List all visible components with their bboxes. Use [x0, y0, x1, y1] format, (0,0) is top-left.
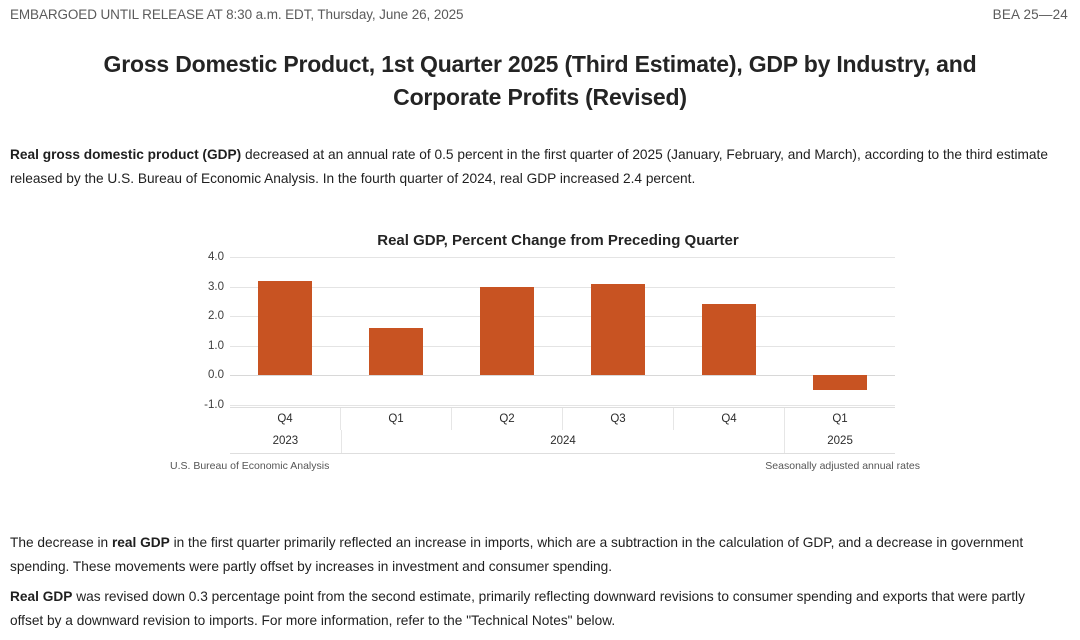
chart-footnotes: U.S. Bureau of Economic Analysis Seasona… — [170, 460, 920, 472]
x-axis-year-row: 202320242025 — [230, 430, 895, 453]
gdp-bar-chart: Real GDP, Percent Change from Preceding … — [160, 232, 920, 487]
intro-paragraph: Real gross domestic product (GDP) decrea… — [10, 143, 1054, 191]
y-tick-label: 3.0 — [188, 281, 224, 293]
y-tick-label: 0.0 — [188, 369, 224, 381]
bar-slot — [673, 257, 784, 405]
chart-plot-area — [230, 257, 895, 405]
intro-lead-bold: Real gross domestic product (GDP) — [10, 147, 241, 162]
x-tick-label: Q1 — [340, 408, 451, 430]
embargo-notice: EMBARGOED UNTIL RELEASE AT 8:30 a.m. EDT… — [10, 7, 463, 22]
bar — [369, 328, 423, 375]
bar-slot — [452, 257, 563, 405]
y-axis-labels: 4.03.02.01.00.0-1.0 — [188, 257, 224, 405]
paragraph-2-bold: Real GDP — [10, 589, 72, 604]
paragraph-decrease: The decrease in real GDP in the first qu… — [10, 531, 1054, 579]
chart-source-note: U.S. Bureau of Economic Analysis — [170, 460, 329, 472]
y-tick-label: 4.0 — [188, 251, 224, 263]
x-axis: Q4Q1Q2Q3Q4Q1 202320242025 — [230, 407, 895, 454]
page-title-line-2: Corporate Profits (Revised) — [0, 81, 1080, 114]
bar-slot — [562, 257, 673, 405]
chart-plot-region: 4.03.02.01.00.0-1.0 Q4Q1Q2Q3Q4Q1 2023202… — [160, 257, 920, 412]
bar — [702, 304, 756, 375]
page-title-line-1: Gross Domestic Product, 1st Quarter 2025… — [0, 48, 1080, 81]
y-tick-label: 2.0 — [188, 310, 224, 322]
bar — [591, 284, 645, 376]
x-tick-label: Q3 — [562, 408, 673, 430]
y-tick-label: -1.0 — [188, 399, 224, 411]
gridline — [230, 405, 895, 406]
bar-series — [230, 257, 895, 405]
bar-slot — [230, 257, 341, 405]
chart-title: Real GDP, Percent Change from Preceding … — [196, 232, 920, 249]
x-axis-year-label: 2025 — [784, 430, 895, 453]
paragraph-revision: Real GDP was revised down 0.3 percentage… — [10, 585, 1054, 633]
page-header: EMBARGOED UNTIL RELEASE AT 8:30 a.m. EDT… — [0, 0, 1080, 28]
bar — [480, 287, 534, 376]
x-axis-quarter-row: Q4Q1Q2Q3Q4Q1 — [230, 408, 895, 430]
x-tick-label: Q4 — [673, 408, 784, 430]
x-tick-label: Q1 — [784, 408, 895, 430]
bar-slot — [784, 257, 895, 405]
bar — [258, 281, 312, 376]
x-tick-label: Q2 — [451, 408, 562, 430]
y-tick-label: 1.0 — [188, 340, 224, 352]
x-axis-year-label: 2023 — [230, 430, 341, 453]
paragraph-1-bold: real GDP — [112, 535, 170, 550]
chart-rate-note: Seasonally adjusted annual rates — [765, 460, 920, 472]
paragraph-1-lead: The decrease in — [10, 535, 112, 550]
release-number: BEA 25—24 — [993, 7, 1068, 22]
document-page: EMBARGOED UNTIL RELEASE AT 8:30 a.m. EDT… — [0, 0, 1080, 640]
page-title: Gross Domestic Product, 1st Quarter 2025… — [0, 48, 1080, 114]
x-axis-year-label: 2024 — [341, 430, 784, 453]
bar — [813, 375, 867, 390]
x-tick-label: Q4 — [230, 408, 340, 430]
paragraph-2-body: was revised down 0.3 percentage point fr… — [10, 589, 1025, 628]
bar-slot — [341, 257, 452, 405]
